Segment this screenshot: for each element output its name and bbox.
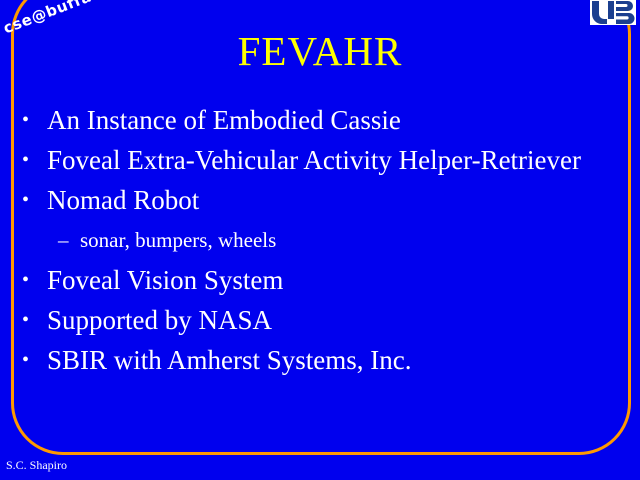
list-item: • Nomad Robot: [22, 180, 622, 220]
ub-logo: [590, 0, 636, 25]
page-title: FEVAHR: [0, 26, 640, 76]
list-item-label: Nomad Robot: [47, 180, 622, 220]
sub-list-item: – sonar, bumpers, wheels: [22, 220, 622, 260]
dash-marker-icon: –: [58, 220, 80, 260]
slide-canvas: cse@buffalo FEVAHR • An Instance of Embo…: [0, 0, 640, 480]
list-item-label: Foveal Vision System: [47, 260, 622, 300]
bullet-marker-icon: •: [22, 300, 47, 340]
list-item-label: An Instance of Embodied Cassie: [47, 100, 622, 140]
sub-list-item-label: sonar, bumpers, wheels: [80, 220, 622, 260]
list-item-label: Supported by NASA: [47, 300, 622, 340]
bullet-list: • An Instance of Embodied Cassie • Fovea…: [22, 100, 622, 380]
bullet-marker-icon: •: [22, 140, 47, 180]
list-item: • SBIR with Amherst Systems, Inc.: [22, 340, 622, 380]
list-item-label: Foveal Extra-Vehicular Activity Helper-R…: [47, 140, 622, 180]
bullet-marker-icon: •: [22, 180, 47, 220]
list-item: • Supported by NASA: [22, 300, 622, 340]
bullet-marker-icon: •: [22, 100, 47, 140]
list-item: • An Instance of Embodied Cassie: [22, 100, 622, 140]
list-item-label: SBIR with Amherst Systems, Inc.: [47, 340, 622, 380]
bullet-marker-icon: •: [22, 340, 47, 380]
list-item: • Foveal Vision System: [22, 260, 622, 300]
footer-author: S.C. Shapiro: [6, 458, 67, 472]
list-item: • Foveal Extra-Vehicular Activity Helper…: [22, 140, 622, 180]
bullet-marker-icon: •: [22, 260, 47, 300]
